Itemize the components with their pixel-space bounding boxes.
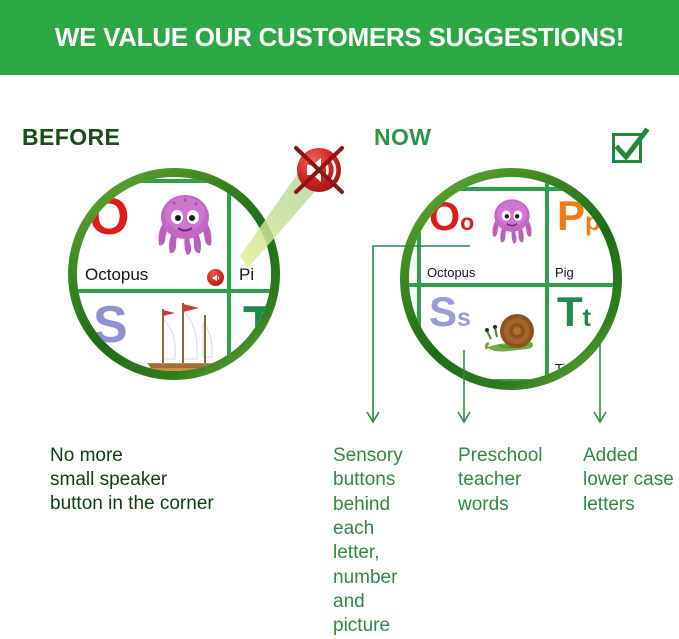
letter-s-lower: s bbox=[457, 304, 471, 332]
before-magnifier-lens: O bbox=[77, 177, 271, 371]
letter-o-lower: o bbox=[460, 209, 474, 235]
word-l-partial: L bbox=[555, 177, 562, 185]
word-octopus: Octopus bbox=[85, 265, 148, 285]
banner-title: WE VALUE OUR CUSTOMERS SUGGESTIONS! bbox=[55, 22, 624, 53]
board-cell-tiger: T bbox=[231, 293, 271, 371]
letter-T: T bbox=[243, 299, 271, 351]
word-pig-partial: Pi bbox=[239, 265, 254, 285]
robot-bee-icon bbox=[409, 295, 417, 354]
speaker-button-icon[interactable] bbox=[207, 269, 224, 286]
board-cell-kite: Kite bbox=[421, 177, 545, 187]
note-preschool-words: Preschool teacher words bbox=[458, 444, 558, 517]
letter-S: S bbox=[93, 299, 128, 351]
board-cell-l: L bbox=[549, 177, 613, 187]
word-octopus: Octopus bbox=[427, 265, 475, 280]
board-cell-pig: Pi bbox=[231, 183, 271, 289]
kite-icon bbox=[495, 177, 529, 178]
board-cell-bee bbox=[409, 287, 417, 379]
letter-O: O bbox=[89, 191, 129, 243]
board-cell-octopus: Oo bbox=[421, 191, 545, 283]
octopus-icon bbox=[483, 195, 541, 256]
letter-t-lower: t bbox=[583, 304, 591, 332]
letter-Oo: Oo bbox=[429, 197, 474, 237]
board-cell-snail: Ss Snail bbox=[421, 287, 545, 379]
letter-T-upper: T bbox=[557, 288, 583, 335]
word-kite: Kite bbox=[427, 177, 449, 185]
before-caption: No more small speaker button in the corn… bbox=[50, 444, 320, 516]
board-cell-octopus: O bbox=[77, 183, 227, 289]
header-banner: WE VALUE OUR CUSTOMERS SUGGESTIONS! bbox=[0, 0, 679, 75]
word-pig: Pig bbox=[555, 265, 574, 280]
word-snail: Snail bbox=[427, 361, 456, 376]
board-cell bbox=[77, 177, 227, 179]
before-heading: BEFORE bbox=[22, 124, 120, 151]
board-cell bbox=[409, 177, 417, 187]
board-cell bbox=[231, 177, 271, 179]
letter-p-lower: p bbox=[585, 206, 601, 236]
letter-P-upper: P bbox=[557, 192, 585, 239]
letter-S-upper: S bbox=[429, 288, 457, 335]
before-caption-line: No more bbox=[50, 444, 320, 468]
snail-icon bbox=[483, 309, 543, 362]
word-tiger: Tiger bbox=[555, 361, 584, 376]
checkbox-checked-icon bbox=[612, 133, 642, 163]
letter-Tt: Tt bbox=[557, 291, 591, 333]
alphabet-board-now: Kite L bbox=[409, 177, 613, 381]
letter-O-upper: O bbox=[429, 195, 460, 239]
now-magnifier-lens: Kite L bbox=[409, 177, 613, 381]
board-cell-ship: S Ship bbox=[77, 293, 227, 371]
letter-Ss: Ss bbox=[429, 291, 471, 333]
nest-basket-icon bbox=[409, 209, 417, 260]
alphabet-board-before: O bbox=[77, 177, 271, 371]
octopus-icon bbox=[147, 189, 223, 270]
speaker-crossed-out-icon bbox=[291, 142, 347, 198]
now-heading: NOW bbox=[374, 124, 431, 151]
note-sensory-buttons: Sensory buttons behind each letter, numb… bbox=[333, 444, 425, 639]
note-lowercase-letters: Added lower case letters bbox=[583, 444, 675, 517]
before-caption-line: small speaker bbox=[50, 468, 320, 492]
board-cell-nest bbox=[409, 191, 417, 283]
before-caption-line: button in the corner bbox=[50, 492, 320, 516]
sailing-ship-icon bbox=[137, 301, 227, 371]
letter-Pp: Pp bbox=[557, 195, 601, 237]
board-cell-pig: Pp Pig bbox=[549, 191, 613, 283]
board-cell-tiger: Tt Tiger bbox=[549, 287, 613, 379]
